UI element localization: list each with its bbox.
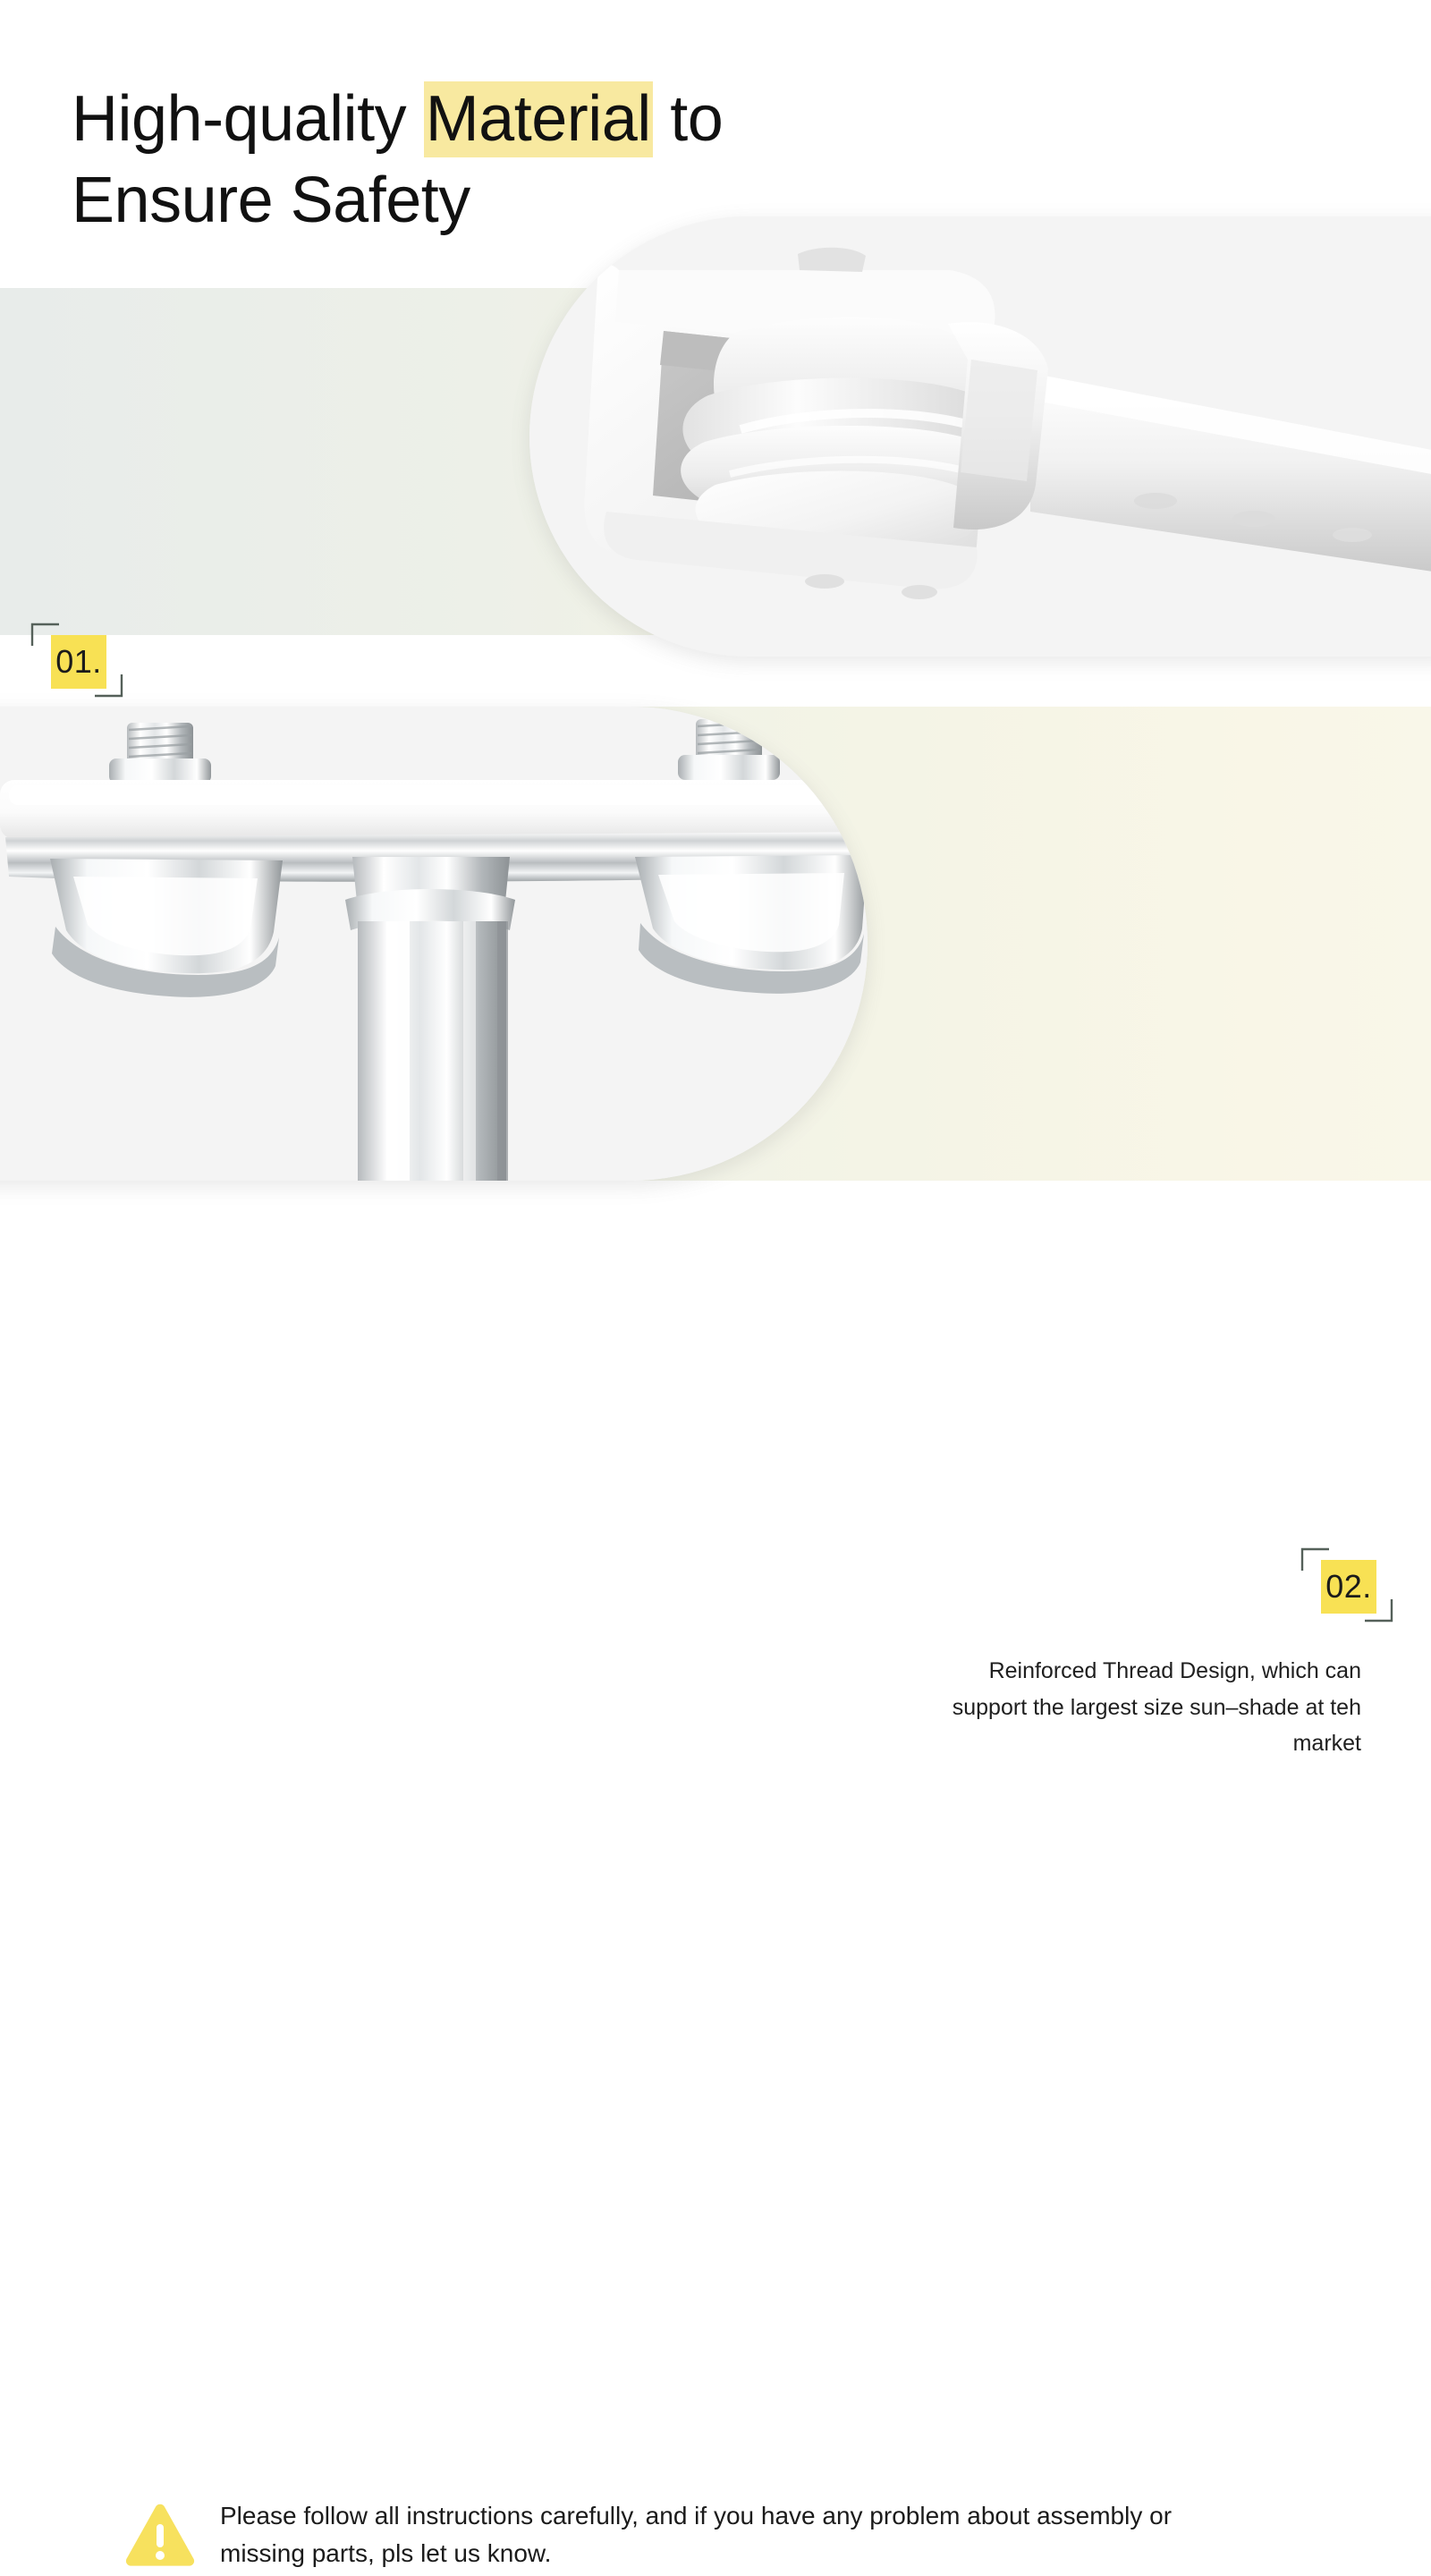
badge-02-label: 02. (1321, 1560, 1376, 1614)
t-bracket-product-image (0, 707, 868, 1181)
footer-note-text: Please follow all instructions carefully… (220, 2497, 1204, 2572)
warning-triangle-icon (122, 2499, 199, 2576)
feature-section-02: 02. Reinforced Thread Design, which can … (0, 707, 1431, 1181)
bracket-clamp-product-image (529, 216, 1431, 657)
footer-note-area: Please follow all instructions carefully… (0, 1234, 1431, 1431)
badge-02-group: 02. (1299, 1546, 1395, 1624)
title-text-post: to (653, 83, 724, 155)
title-highlight: Material (424, 81, 653, 157)
title-text-pre: High-quality (72, 83, 424, 155)
section-01-image-panel (529, 216, 1431, 657)
page-title-line-1: High-quality Material to (72, 79, 876, 160)
section-02-image-panel (0, 707, 868, 1181)
section-02-body-text: Reinforced Thread Design, which can supp… (912, 1653, 1361, 1762)
feature-section-01: 01. Enhanced New PE Technology Material,… (0, 288, 1431, 635)
badge-01-label: 01. (51, 635, 106, 689)
badge-01-group: 01. (29, 621, 125, 699)
